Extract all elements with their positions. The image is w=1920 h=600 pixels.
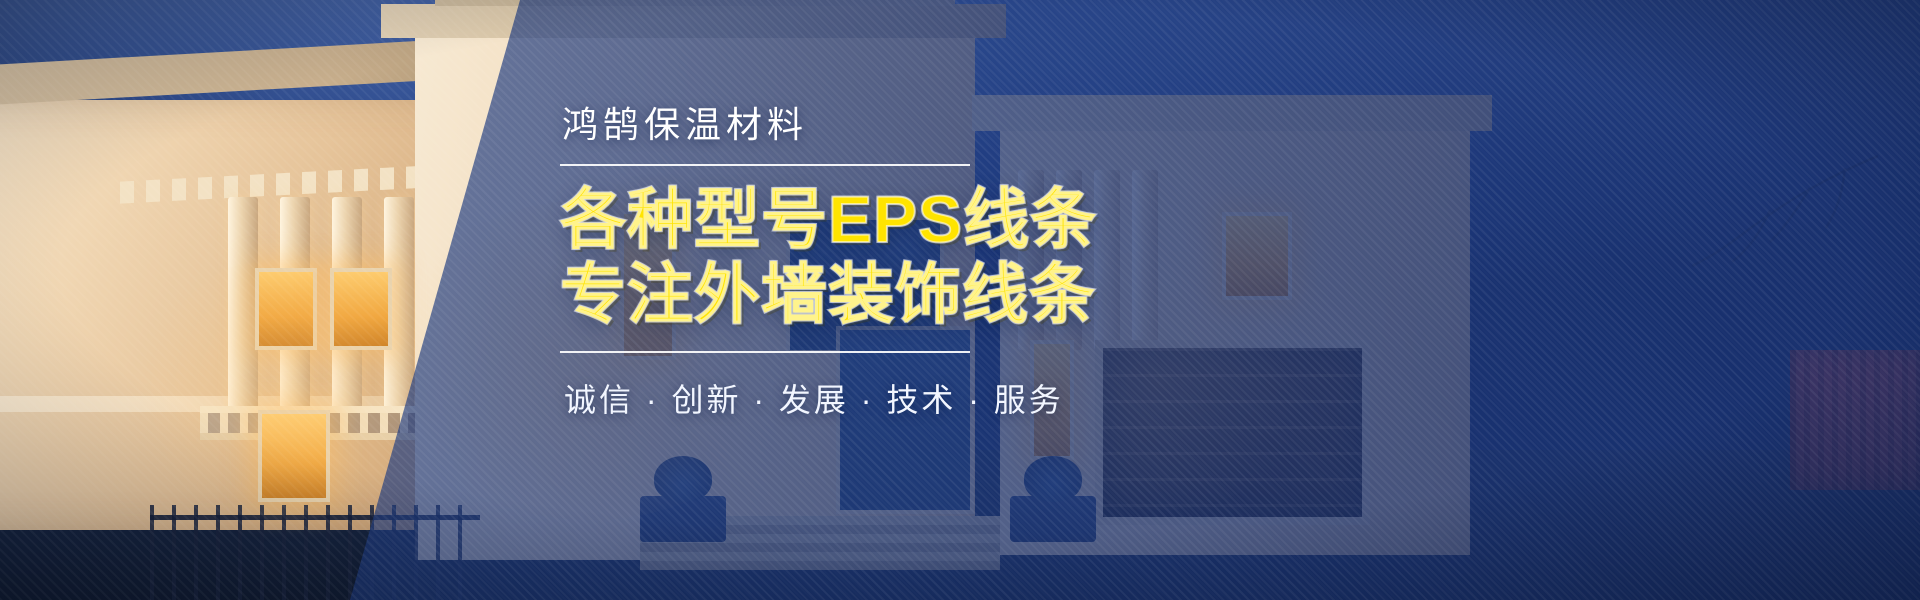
headline-line-2: 专注外墙装饰线条	[560, 261, 1560, 328]
divider-top	[560, 164, 970, 166]
banner-copy: 鸿鹄保温材料 各种型号EPS线条 专注外墙装饰线条 诚信 · 创新 · 发展 ·…	[560, 96, 1560, 421]
brand-name: 鸿鹄保温材料	[562, 96, 1560, 148]
promo-banner: 鸿鹄保温材料 各种型号EPS线条 专注外墙装饰线条 诚信 · 创新 · 发展 ·…	[0, 0, 1920, 600]
divider-bottom	[560, 351, 970, 353]
headline: 各种型号EPS线条 专注外墙装饰线条	[560, 186, 1560, 329]
headline-line-1: 各种型号EPS线条	[560, 186, 1560, 253]
tagline: 诚信 · 创新 · 发展 · 技术 · 服务	[564, 375, 1560, 421]
